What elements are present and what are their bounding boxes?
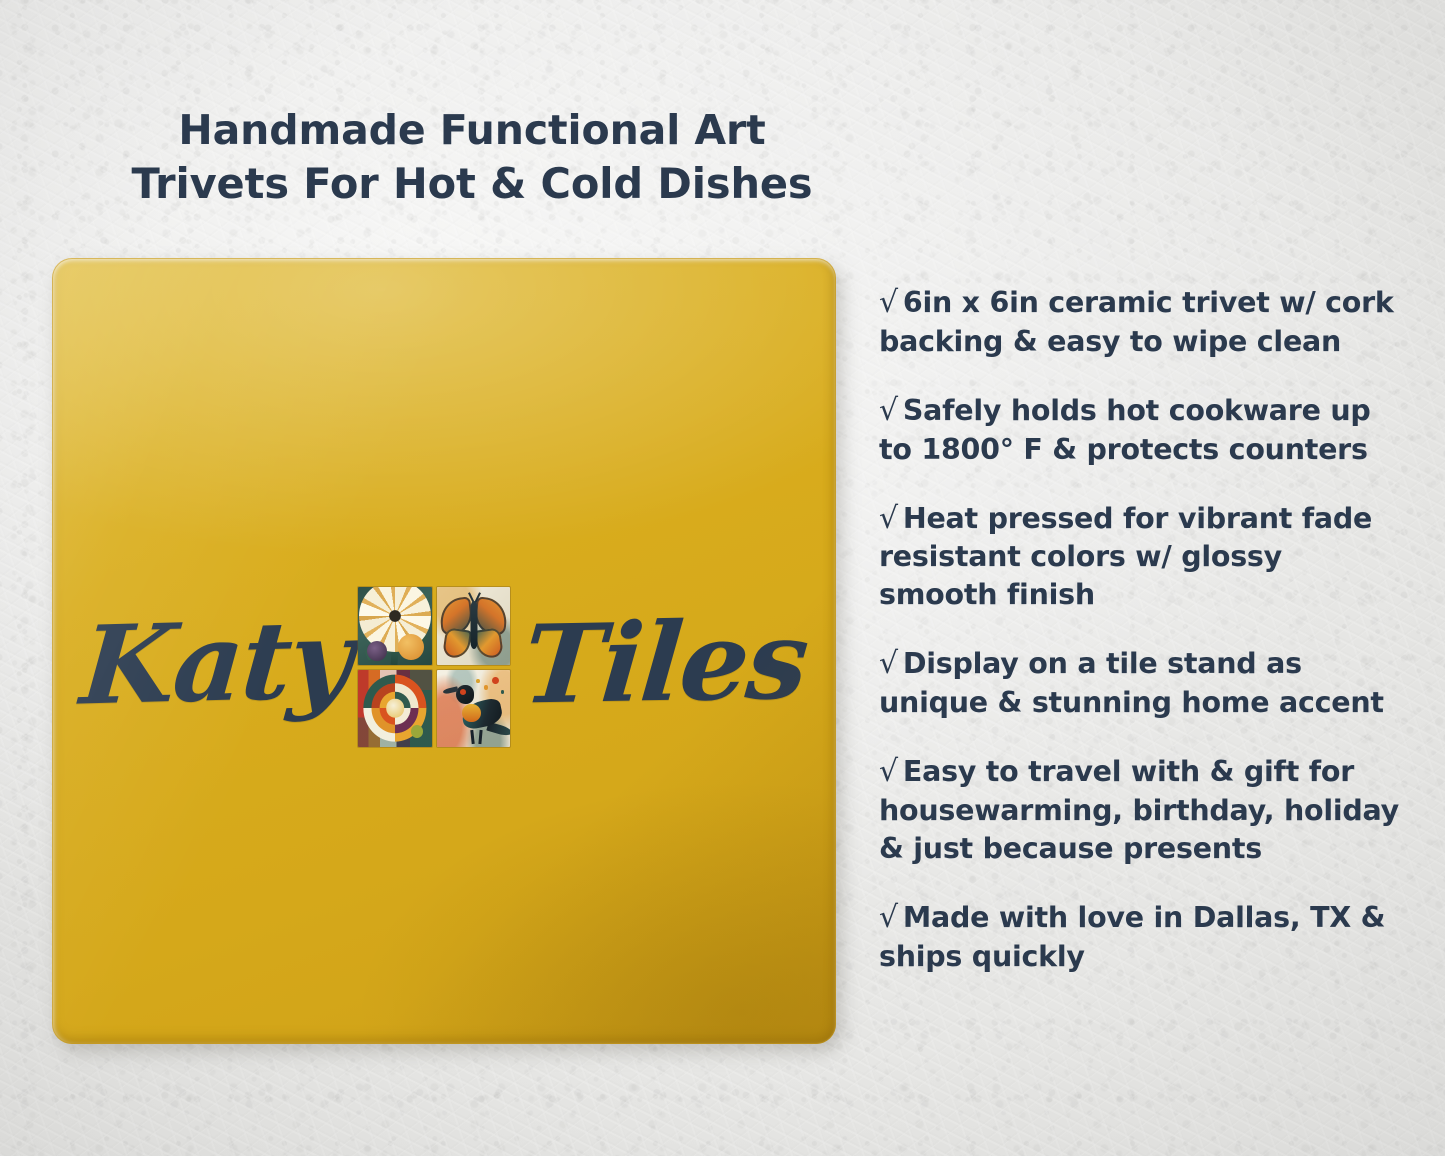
feature-text: Heat pressed for vibrant fade resistant …: [879, 502, 1372, 612]
flower-bud: [367, 641, 387, 661]
logo-word-katy: Katy: [77, 606, 355, 721]
circles-center-dot: [386, 699, 404, 718]
headline: Handmade Functional Art Trivets For Hot …: [62, 104, 882, 211]
headline-line-2: Trivets For Hot & Cold Dishes: [62, 157, 882, 211]
bird-spot-2: [484, 685, 488, 690]
check-icon: √: [879, 501, 898, 536]
check-icon: √: [879, 393, 898, 428]
feature-text: Display on a tile stand as unique & stun…: [879, 647, 1384, 719]
flower-fruit: [398, 634, 424, 660]
feature-item: √Heat pressed for vibrant fade resistant…: [879, 499, 1399, 615]
product-listing-image: Handmade Functional Art Trivets For Hot …: [0, 0, 1445, 1156]
bird-art-tile: [437, 670, 511, 748]
feature-text: 6in x 6in ceramic trivet w/ cork backing…: [879, 286, 1394, 358]
flower-art-tile: [358, 587, 432, 665]
feature-item: √Made with love in Dallas, TX & ships qu…: [879, 898, 1399, 976]
logo-art-tile-grid: [358, 587, 510, 747]
logo-word-tiles: Tiles: [519, 607, 811, 720]
bird-spot-3: [501, 690, 505, 694]
bird-spot-4: [476, 679, 480, 683]
check-icon: √: [879, 285, 898, 320]
trivet-product-photo: Katy: [52, 258, 836, 1044]
concentric-circles-art-tile: [358, 670, 432, 748]
feature-text: Easy to travel with & gift for housewarm…: [879, 755, 1399, 865]
katy-tiles-logo: Katy: [52, 563, 836, 763]
check-icon: √: [879, 754, 898, 789]
circles-accent-dot: [411, 725, 423, 737]
bird-cheek: [460, 689, 467, 695]
feature-item: √Easy to travel with & gift for housewar…: [879, 752, 1399, 868]
check-icon: √: [879, 646, 898, 681]
feature-text: Safely holds hot cookware up to 1800° F …: [879, 394, 1371, 466]
feature-item: √Display on a tile stand as unique & stu…: [879, 644, 1399, 722]
butterfly-art-tile: [437, 587, 511, 665]
yellow-ceramic-tile: Katy: [52, 258, 836, 1044]
feature-text: Made with love in Dallas, TX & ships qui…: [879, 901, 1385, 973]
feature-item: √Safely holds hot cookware up to 1800° F…: [879, 391, 1399, 469]
bird-chest: [462, 704, 481, 723]
check-icon: √: [879, 900, 898, 935]
feature-item: √6in x 6in ceramic trivet w/ cork backin…: [879, 283, 1399, 361]
feature-list: √6in x 6in ceramic trivet w/ cork backin…: [879, 283, 1399, 975]
headline-line-1: Handmade Functional Art: [62, 104, 882, 157]
butterfly-body: [470, 601, 477, 649]
